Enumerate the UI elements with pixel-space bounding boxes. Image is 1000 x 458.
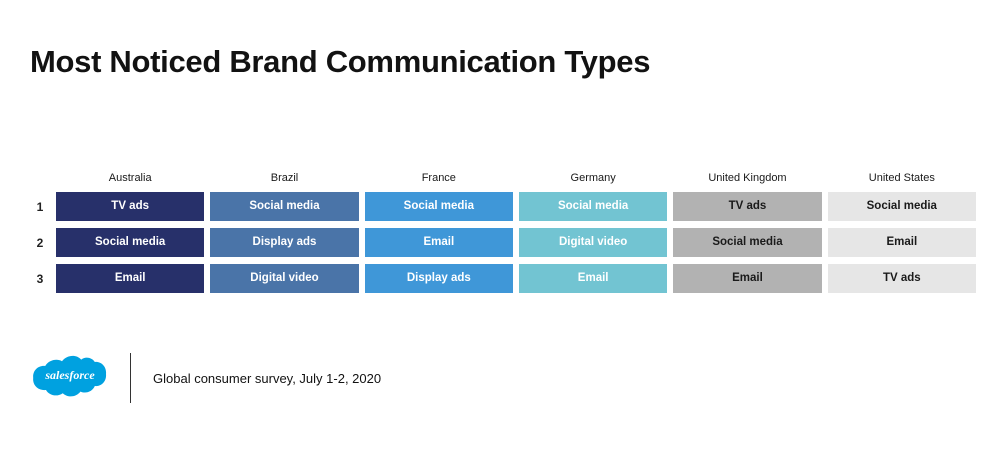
- column-header-france: France: [365, 172, 513, 184]
- footer-caption: Global consumer survey, July 1-2, 2020: [153, 371, 381, 386]
- salesforce-wordmark: salesforce: [44, 368, 95, 382]
- matrix-row-2: 2 Social media Display ads Email Digital…: [24, 228, 976, 257]
- brand-communication-matrix: Australia Brazil France Germany United K…: [24, 172, 976, 293]
- cell-united-states-rank2: Email: [828, 228, 976, 257]
- cell-australia-rank2: Social media: [56, 228, 204, 257]
- column-header-germany: Germany: [519, 172, 667, 184]
- rank-label-1: 1: [24, 200, 56, 214]
- matrix-row-3: 3 Email Digital video Display ads Email …: [24, 264, 976, 293]
- salesforce-cloud-shape: salesforce: [33, 356, 106, 396]
- cell-brazil-rank2: Display ads: [210, 228, 358, 257]
- rank-label-3: 3: [24, 272, 56, 286]
- cell-france-rank3: Display ads: [365, 264, 513, 293]
- column-header-united-states: United States: [828, 172, 976, 184]
- cell-united-kingdom-rank1: TV ads: [673, 192, 821, 221]
- cell-united-kingdom-rank2: Social media: [673, 228, 821, 257]
- cell-united-kingdom-rank3: Email: [673, 264, 821, 293]
- cell-australia-rank3: Email: [56, 264, 204, 293]
- cell-brazil-rank1: Social media: [210, 192, 358, 221]
- page-title: Most Noticed Brand Communication Types: [30, 44, 650, 80]
- footer: salesforce Global consumer survey, July …: [30, 350, 381, 406]
- cell-brazil-rank3: Digital video: [210, 264, 358, 293]
- salesforce-logo-icon: salesforce: [30, 350, 110, 406]
- cell-united-states-rank1: Social media: [828, 192, 976, 221]
- cell-france-rank2: Email: [365, 228, 513, 257]
- cell-united-states-rank3: TV ads: [828, 264, 976, 293]
- column-header-brazil: Brazil: [210, 172, 358, 184]
- matrix-row-1: 1 TV ads Social media Social media Socia…: [24, 192, 976, 221]
- matrix-header-row: Australia Brazil France Germany United K…: [24, 172, 976, 184]
- footer-divider: [130, 353, 131, 403]
- cell-germany-rank1: Social media: [519, 192, 667, 221]
- cell-australia-rank1: TV ads: [56, 192, 204, 221]
- cell-germany-rank2: Digital video: [519, 228, 667, 257]
- column-header-united-kingdom: United Kingdom: [673, 172, 821, 184]
- rank-label-2: 2: [24, 236, 56, 250]
- cell-germany-rank3: Email: [519, 264, 667, 293]
- column-header-australia: Australia: [56, 172, 204, 184]
- cell-france-rank1: Social media: [365, 192, 513, 221]
